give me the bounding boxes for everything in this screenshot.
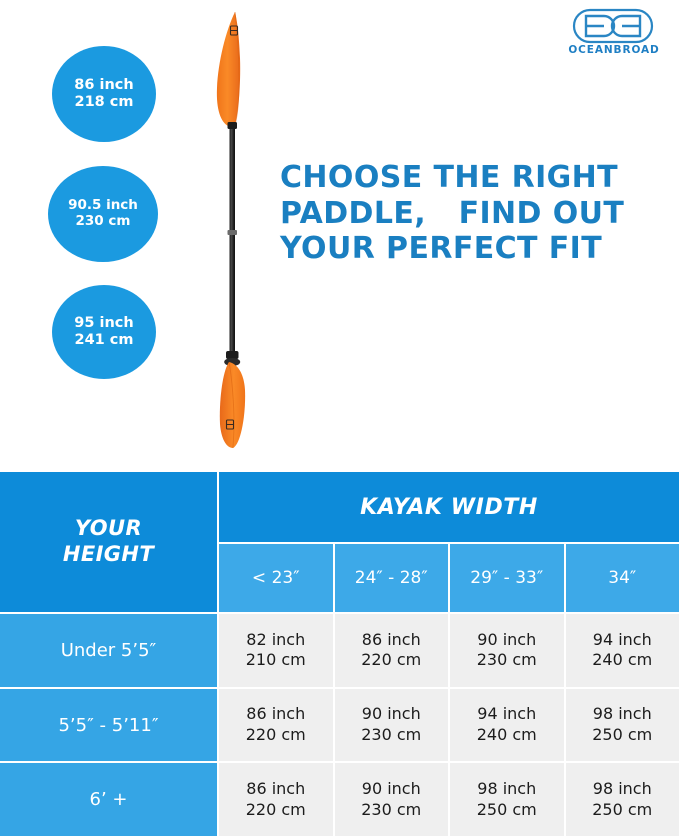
cell-cm: 220 cm <box>246 800 306 821</box>
cell-cm: 250 cm <box>592 725 652 746</box>
cell-inch: 94 inch <box>477 704 536 725</box>
table-header: YOUR HEIGHT KAYAK WIDTH < 23″ 24″ - 28″ … <box>0 472 679 614</box>
table-cell: 98 inch 250 cm <box>566 689 679 762</box>
length-badge-cm: 218 cm <box>74 94 133 111</box>
table-cell: 82 inch 210 cm <box>219 614 335 687</box>
paddle-sizing-table: YOUR HEIGHT KAYAK WIDTH < 23″ 24″ - 28″ … <box>0 472 679 836</box>
page-title: CHOOSE THE RIGHT PADDLE, FIND OUT YOUR P… <box>280 160 670 267</box>
table-cell: 90 inch 230 cm <box>335 689 451 762</box>
table-cell: 86 inch 220 cm <box>219 763 335 836</box>
cell-cm: 230 cm <box>361 800 421 821</box>
cell-inch: 90 inch <box>477 630 536 651</box>
brand-name: OCEANBROAD <box>566 44 662 56</box>
cell-cm: 230 cm <box>477 650 537 671</box>
table-cell: 86 inch 220 cm <box>219 689 335 762</box>
table-row: 6’ + 86 inch 220 cm 90 inch 230 cm 98 in… <box>0 763 679 836</box>
cell-inch: 94 inch <box>593 630 652 651</box>
cell-cm: 240 cm <box>592 650 652 671</box>
cell-inch: 86 inch <box>246 704 305 725</box>
cell-cm: 250 cm <box>477 800 537 821</box>
cell-inch: 98 inch <box>593 779 652 800</box>
kayak-paddle-illustration <box>186 6 282 454</box>
cell-inch: 90 inch <box>362 779 421 800</box>
table-cell: 94 inch 240 cm <box>566 614 679 687</box>
length-badge-cm: 241 cm <box>74 332 133 349</box>
table-cell: 86 inch 220 cm <box>335 614 451 687</box>
column-header-your-height: YOUR HEIGHT <box>0 472 219 612</box>
length-badge-inch: 95 inch <box>74 315 133 332</box>
paddle-ferrule <box>228 230 238 235</box>
cell-cm: 250 cm <box>592 800 652 821</box>
paddle-collar-bottom <box>226 351 239 359</box>
table-row: Under 5’5″ 82 inch 210 cm 86 inch 220 cm… <box>0 614 679 689</box>
length-badge: 86 inch 218 cm <box>52 46 156 142</box>
column-header-kayak-width: KAYAK WIDTH <box>219 472 679 544</box>
brand-logo: OCEANBROAD <box>566 8 662 60</box>
table-cell: 90 inch 230 cm <box>335 763 451 836</box>
length-badge: 90.5 inch 230 cm <box>48 166 158 262</box>
oceanbroad-logo-icon <box>572 8 654 44</box>
length-badge-inch: 90.5 inch <box>68 198 138 214</box>
table-cell: 98 inch 250 cm <box>450 763 566 836</box>
row-label-height: 5’5″ - 5’11″ <box>0 689 219 762</box>
kayak-width-header-group: KAYAK WIDTH < 23″ 24″ - 28″ 29″ - 33″ 34… <box>219 472 679 612</box>
table-cell: 98 inch 250 cm <box>566 763 679 836</box>
width-subcolumn-headers: < 23″ 24″ - 28″ 29″ - 33″ 34″ <box>219 544 679 612</box>
cell-inch: 86 inch <box>362 630 421 651</box>
row-cells: 86 inch 220 cm 90 inch 230 cm 94 inch 24… <box>219 689 679 762</box>
cell-cm: 220 cm <box>361 650 421 671</box>
row-cells: 82 inch 210 cm 86 inch 220 cm 90 inch 23… <box>219 614 679 687</box>
paddle-blade-top <box>217 12 240 128</box>
subcolumn-header-width-2: 24″ - 28″ <box>335 544 451 612</box>
cell-inch: 82 inch <box>246 630 305 651</box>
subcolumn-header-width-4: 34″ <box>566 544 679 612</box>
subcolumn-header-width-1: < 23″ <box>219 544 335 612</box>
cell-inch: 98 inch <box>477 779 536 800</box>
cell-inch: 90 inch <box>362 704 421 725</box>
row-cells: 86 inch 220 cm 90 inch 230 cm 98 inch 25… <box>219 763 679 836</box>
paddle-shaft <box>230 124 236 356</box>
subcolumn-header-width-3: 29″ - 33″ <box>450 544 566 612</box>
table-cell: 94 inch 240 cm <box>450 689 566 762</box>
length-badge-cm: 230 cm <box>76 214 131 230</box>
cell-inch: 86 inch <box>246 779 305 800</box>
table-row: 5’5″ - 5’11″ 86 inch 220 cm 90 inch 230 … <box>0 689 679 764</box>
cell-cm: 210 cm <box>246 650 306 671</box>
cell-inch: 98 inch <box>593 704 652 725</box>
cell-cm: 240 cm <box>477 725 537 746</box>
cell-cm: 230 cm <box>361 725 421 746</box>
row-label-height: Under 5’5″ <box>0 614 219 687</box>
paddle-collar-top <box>228 122 238 129</box>
table-cell: 90 inch 230 cm <box>450 614 566 687</box>
length-badge-inch: 86 inch <box>74 77 133 94</box>
row-label-height: 6’ + <box>0 763 219 836</box>
paddle-blade-bottom <box>220 362 245 448</box>
cell-cm: 220 cm <box>246 725 306 746</box>
length-badge: 95 inch 241 cm <box>52 285 156 379</box>
